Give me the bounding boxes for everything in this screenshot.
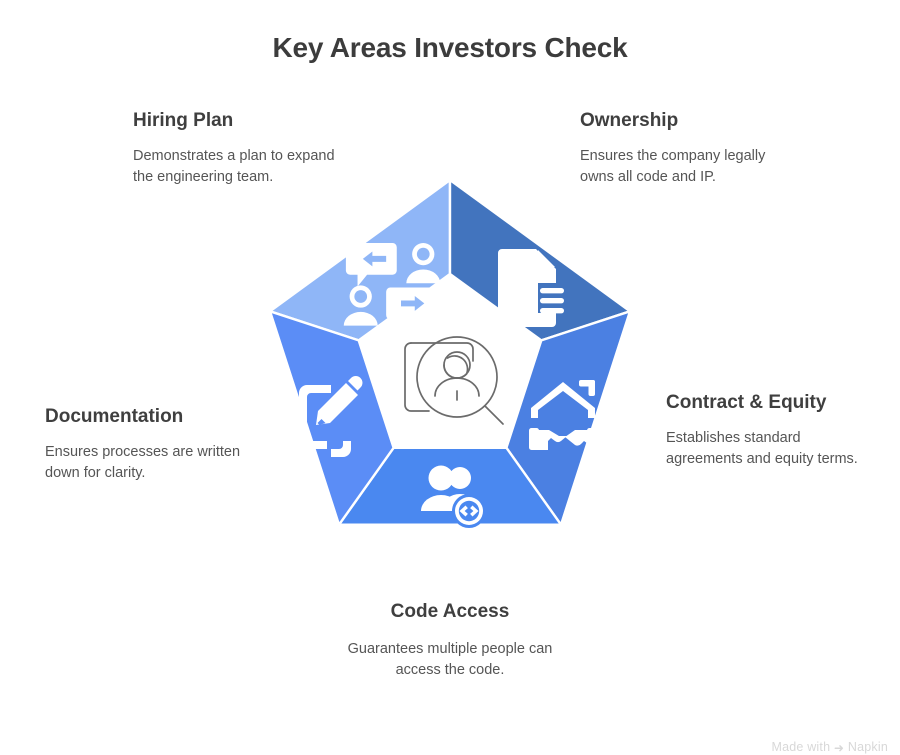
label-desc-contract-equity: Establishes standard agreements and equi… [666, 428, 881, 470]
label-desc-code-access: Guarantees multiple people can access th… [330, 639, 570, 681]
watermark-brand: Napkin [848, 740, 888, 754]
watermark-prefix: Made with [771, 740, 830, 754]
label-block-code-access: Code Access Guarantees multiple people c… [330, 601, 570, 681]
watermark: Made with ➜ Napkin [771, 740, 888, 754]
label-title-documentation: Documentation [45, 406, 260, 429]
label-title-contract-equity: Contract & Equity [666, 392, 881, 415]
label-title-hiring-plan: Hiring Plan [133, 110, 343, 133]
segment-hiring-plan[interactable] [270, 180, 450, 340]
infographic-page: Key Areas Investors Check [0, 0, 900, 750]
segment-ownership[interactable] [450, 180, 630, 340]
label-desc-documentation: Ensures processes are written down for c… [45, 442, 260, 484]
pentagon-diagram [235, 165, 665, 565]
label-block-ownership: Ownership Ensures the company legally ow… [580, 110, 785, 188]
label-block-contract-equity: Contract & Equity Establishes standard a… [666, 392, 881, 470]
document-profile-magnifier-icon [405, 337, 503, 424]
napkin-logo-icon: ➜ [834, 741, 844, 755]
page-title: Key Areas Investors Check [0, 32, 900, 64]
label-desc-hiring-plan: Demonstrates a plan to expand the engine… [133, 146, 343, 188]
label-desc-ownership: Ensures the company legally owns all cod… [580, 146, 785, 188]
label-block-documentation: Documentation Ensures processes are writ… [45, 406, 260, 484]
label-title-code-access: Code Access [330, 601, 570, 624]
label-title-ownership: Ownership [580, 110, 785, 133]
label-block-hiring-plan: Hiring Plan Demonstrates a plan to expan… [133, 110, 343, 188]
